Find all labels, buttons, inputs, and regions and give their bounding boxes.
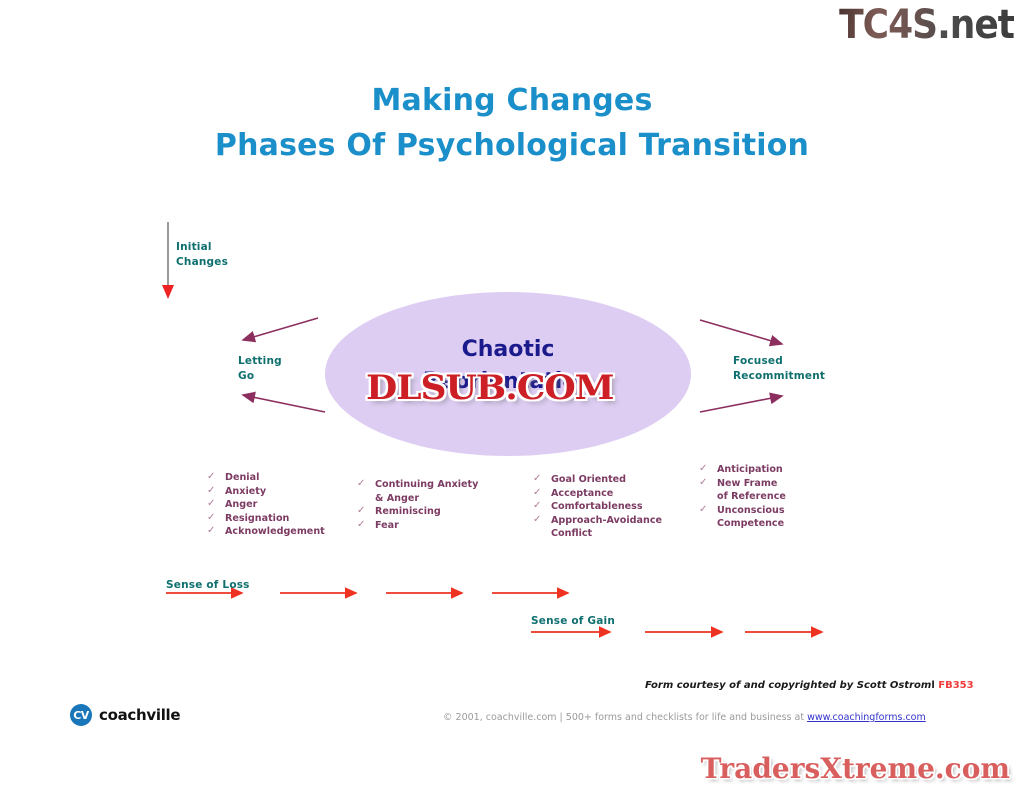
label-focused-recommitment: Focused Recommitment <box>733 354 825 384</box>
checklist-item: ✓Anxiety <box>207 485 325 499</box>
checklist-item-label: Unconscious <box>717 505 785 516</box>
checklist-item-label: Continuing Anxiety <box>375 479 478 490</box>
check-icon: ✓ <box>207 511 215 525</box>
checklist-item-continuation: Competence <box>717 517 786 531</box>
checklist-letting-go: ✓Denial✓Anxiety✓Anger✓Resignation✓Acknow… <box>207 471 325 539</box>
label-letting-go-line-1: Letting <box>238 354 282 369</box>
check-icon: ✓ <box>533 513 541 527</box>
check-icon: ✓ <box>699 476 707 490</box>
check-icon: ✓ <box>533 472 541 486</box>
checklist-item: ✓Acknowledgement <box>207 525 325 539</box>
checklist-item: ✓Resignation <box>207 512 325 526</box>
checklist-item-label: Acceptance <box>551 488 613 499</box>
checklist-item: ✓Continuing Anxiety& Anger <box>357 478 478 505</box>
form-credit: Form courtesy of and copyrighted by Scot… <box>645 680 974 691</box>
label-focused-recommitment-line-1: Focused <box>733 354 825 369</box>
checklist-item: ✓Goal Oriented <box>533 473 662 487</box>
copyright-line: © 2001, coachville.com | 500+ forms and … <box>443 712 926 723</box>
check-icon: ✓ <box>699 503 707 517</box>
checklist-item-label: Anxiety <box>225 486 266 497</box>
coachville-badge-icon: CV <box>70 704 92 726</box>
checklist-item: ✓Comfortableness <box>533 500 662 514</box>
checklist-item-label: Anticipation <box>717 464 783 475</box>
label-initial-changes-line-2: Changes <box>176 255 228 270</box>
checklist-item-label: Anger <box>225 499 257 510</box>
checklist-item-label: Resignation <box>225 513 289 524</box>
checklist-item-label: Denial <box>225 472 259 483</box>
checklist-item: ✓Fear <box>357 519 478 533</box>
page-root: TC4S.net Making Changes Phases Of Psycho… <box>0 0 1024 791</box>
checklist-item-label: Goal Oriented <box>551 474 626 485</box>
checklist-item-label: Approach-Avoidance <box>551 515 662 526</box>
check-icon: ✓ <box>207 497 215 511</box>
check-icon: ✓ <box>357 518 365 532</box>
checklist-item: ✓Reminiscing <box>357 505 478 519</box>
label-sense-of-loss: Sense of Loss <box>166 578 250 593</box>
check-icon: ✓ <box>699 462 707 476</box>
check-icon: ✓ <box>357 477 365 491</box>
check-icon: ✓ <box>533 499 541 513</box>
coachville-logo[interactable]: CV coachville <box>70 704 180 726</box>
coachville-wordmark: coachville <box>99 706 180 724</box>
checklist-item: ✓Anger <box>207 498 325 512</box>
dlsub-watermark: DLSUB.COM <box>366 368 613 408</box>
ellipse-label-line-1: Chaotic <box>325 334 691 366</box>
coachingforms-link[interactable]: www.coachingforms.com <box>807 712 926 723</box>
checklist-item-label: Reminiscing <box>375 506 441 517</box>
check-icon: ✓ <box>207 524 215 538</box>
label-letting-go: Letting Go <box>238 354 282 384</box>
checklist-item: ✓UnconsciousCompetence <box>699 504 786 531</box>
copyright-text: © 2001, coachville.com | 500+ forms and … <box>443 712 807 723</box>
checklist-reorientation: ✓Goal Oriented✓Acceptance✓Comfortablenes… <box>533 473 662 541</box>
label-letting-go-line-2: Go <box>238 369 282 384</box>
checklist-item-continuation: of Reference <box>717 490 786 504</box>
checklist-item-label: Comfortableness <box>551 501 643 512</box>
label-focused-recommitment-line-2: Recommitment <box>733 369 825 384</box>
check-icon: ✓ <box>357 504 365 518</box>
initial-changes-arrow <box>162 222 174 299</box>
checklist-item: ✓Approach-AvoidanceConflict <box>533 514 662 541</box>
label-initial-changes: Initial Changes <box>176 240 228 270</box>
credit-code: FB353 <box>938 680 973 691</box>
checklist-item: ✓New Frameof Reference <box>699 477 786 504</box>
checklist-item: ✓Denial <box>207 471 325 485</box>
checklist-recommitment: ✓Anticipation✓New Frameof Reference✓Unco… <box>699 463 786 531</box>
checklist-item: ✓Acceptance <box>533 487 662 501</box>
checklist-item-continuation: & Anger <box>375 492 478 506</box>
checklist-transition: ✓Continuing Anxiety& Anger✓Reminiscing✓F… <box>357 478 478 532</box>
check-icon: ✓ <box>207 484 215 498</box>
credit-separator: l <box>931 680 934 691</box>
checklist-item-continuation: Conflict <box>551 527 662 541</box>
credit-text: Form courtesy of and copyrighted by Scot… <box>645 680 931 691</box>
label-sense-of-gain: Sense of Gain <box>531 614 615 629</box>
check-icon: ✓ <box>207 470 215 484</box>
checklist-item-label: New Frame <box>717 478 777 489</box>
checklist-item-label: Acknowledgement <box>225 526 325 537</box>
check-icon: ✓ <box>533 486 541 500</box>
label-initial-changes-line-1: Initial <box>176 240 228 255</box>
checklist-item: ✓Anticipation <box>699 463 786 477</box>
checklist-item-label: Fear <box>375 520 399 531</box>
